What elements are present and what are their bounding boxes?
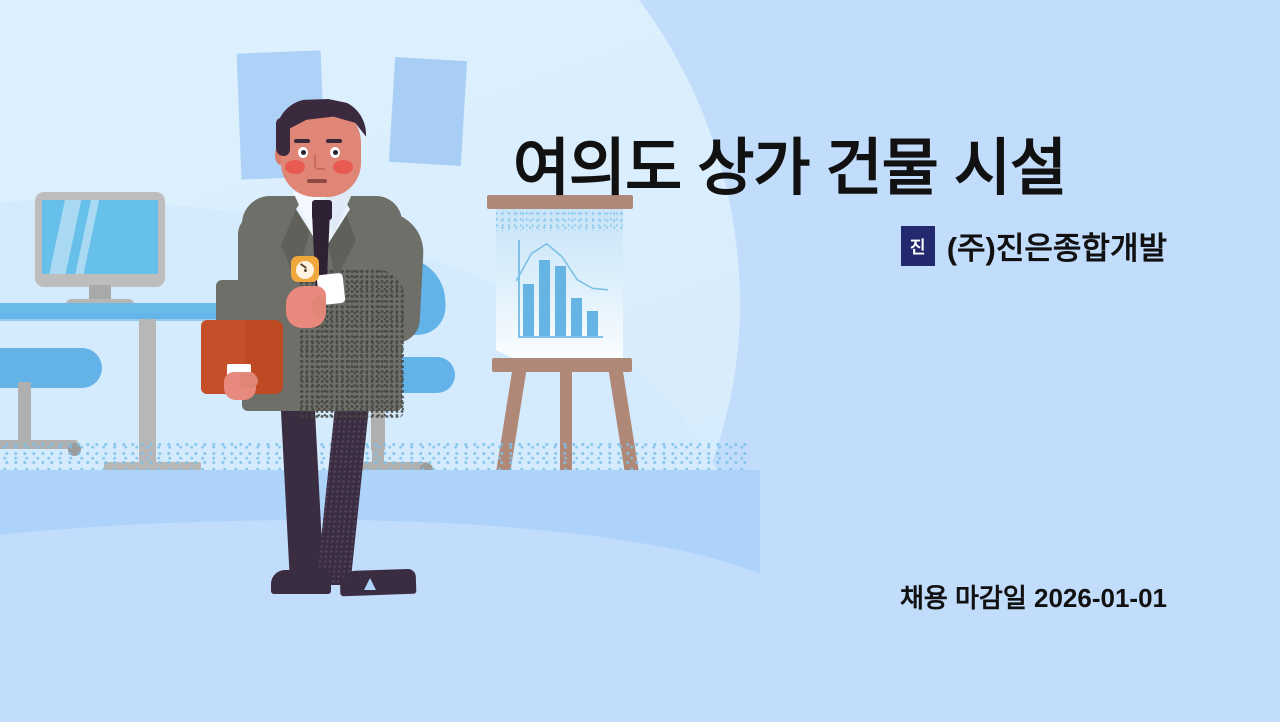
- nose: [314, 155, 325, 170]
- company-name: (주)진은종합개발: [947, 223, 1167, 268]
- wristwatch-center: [304, 269, 307, 272]
- pupil-left: [301, 150, 306, 155]
- fingers-left: [240, 374, 258, 388]
- cheek-left: [285, 160, 305, 174]
- company-logo-badge: 진: [901, 226, 935, 266]
- hair-sideburn: [276, 118, 290, 156]
- thumb-right: [312, 296, 326, 318]
- pupil-right: [333, 150, 338, 155]
- company-row: 진 (주)진은종합개발: [901, 223, 1167, 268]
- shoe-left: [271, 570, 331, 594]
- leg-left: [280, 400, 323, 575]
- eyebrow-right: [326, 139, 342, 143]
- mouth: [307, 179, 327, 183]
- businessman-figure: [0, 0, 722, 722]
- job-posting-poster: 여의도 상가 건물 시설 진 (주)진은종합개발 채용 마감일 2026-01-…: [0, 0, 1280, 722]
- cheek-right: [333, 160, 353, 174]
- office-illustration: [0, 0, 722, 722]
- page-title: 여의도 상가 건물 시설: [513, 133, 1066, 204]
- leg-right-texture: [316, 400, 369, 585]
- eyebrow-left: [294, 139, 310, 143]
- deadline-text: 채용 마감일 2026-01-01: [900, 578, 1167, 615]
- shoe-right: [340, 569, 417, 597]
